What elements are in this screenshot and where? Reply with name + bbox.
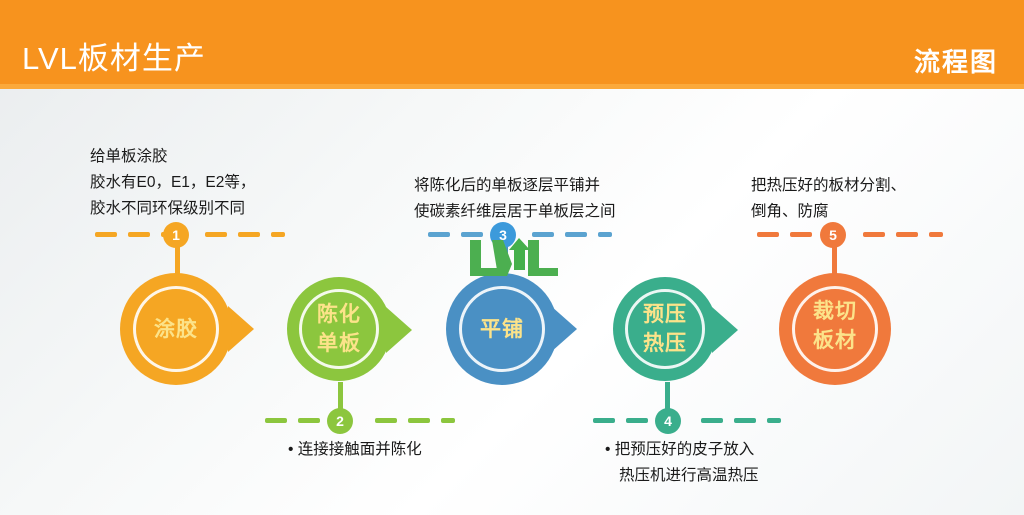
marker-dash	[790, 232, 812, 237]
flow-ring-1	[133, 286, 219, 372]
infographic-page: LVL板材生产 流程图 涂胶 1 给单板涂胶 胶水有E0，E1，E2等， 胶水不…	[0, 0, 1024, 515]
marker-dash	[565, 232, 587, 237]
marker-dash	[298, 418, 320, 423]
marker-dash	[238, 232, 260, 237]
flow-badge-5: 5	[820, 222, 846, 248]
marker-dash	[757, 232, 779, 237]
marker-dash	[701, 418, 723, 423]
flow-bullet-2: •	[288, 441, 293, 458]
header-underline	[0, 84, 1024, 89]
flow-marker-4	[593, 418, 793, 423]
header-badge-label: 流程图	[914, 42, 998, 79]
marker-dash	[896, 232, 918, 237]
marker-dash	[128, 232, 150, 237]
flow-ring-3	[459, 286, 545, 372]
flow-caption-2-line1: 连接接触面并陈化	[298, 441, 422, 458]
flow-caption-1: 给单板涂胶 胶水有E0，E1，E2等， 胶水不同环保级别不同	[90, 144, 255, 222]
flow-marker-1	[95, 232, 295, 237]
marker-dash	[428, 232, 450, 237]
marker-dash	[271, 232, 285, 237]
flow-marker-2	[265, 418, 465, 423]
flow-caption-4-line2: 热压机进行高温热压	[619, 467, 759, 484]
marker-dash	[375, 418, 397, 423]
marker-dash	[441, 418, 455, 423]
marker-dash	[626, 418, 648, 423]
flow-caption-2: • 连接接触面并陈化	[288, 437, 422, 463]
flow-badge-1: 1	[163, 222, 189, 248]
marker-dash	[929, 232, 943, 237]
flow-ring-4	[625, 289, 705, 369]
flow-caption-1-line2: 胶水有E0，E1，E2等，	[90, 170, 255, 196]
marker-dash	[598, 232, 612, 237]
flow-ring-5	[792, 286, 878, 372]
flow-caption-3-line2: 使碳素纤维层居于单板层之间	[414, 199, 616, 225]
marker-dash	[593, 418, 615, 423]
flow-caption-3-line1: 将陈化后的单板逐层平铺并	[414, 173, 616, 199]
marker-dash	[265, 418, 287, 423]
flow-badge-4: 4	[655, 408, 681, 434]
flow-marker-5	[757, 232, 947, 237]
flow-caption-3: 将陈化后的单板逐层平铺并 使碳素纤维层居于单板层之间	[414, 173, 616, 225]
header-band: LVL板材生产 流程图	[0, 0, 1024, 88]
lvl-logo-watermark	[466, 236, 562, 278]
marker-dash	[734, 418, 756, 423]
flow-ring-2	[299, 289, 379, 369]
marker-dash	[461, 232, 483, 237]
flow-caption-5-line1: 把热压好的板材分割、	[751, 173, 906, 199]
flow-marker-3	[428, 232, 618, 237]
flow-badge-2: 2	[327, 408, 353, 434]
flow-caption-1-line3: 胶水不同环保级别不同	[90, 196, 255, 222]
marker-dash	[767, 418, 781, 423]
flow-caption-5-line2: 倒角、防腐	[751, 199, 906, 225]
marker-dash	[532, 232, 554, 237]
marker-dash	[205, 232, 227, 237]
flow-bullet-4: •	[605, 441, 610, 458]
flow-caption-4-line1: 把预压好的皮子放入	[615, 441, 755, 458]
marker-dash	[863, 232, 885, 237]
page-title: LVL板材生产	[22, 33, 206, 78]
flow-caption-1-line1: 给单板涂胶	[90, 144, 255, 170]
flow-caption-5: 把热压好的板材分割、 倒角、防腐	[751, 173, 906, 225]
marker-dash	[95, 232, 117, 237]
marker-dash	[408, 418, 430, 423]
flow-badge-3: 3	[490, 222, 516, 248]
flow-caption-4: • 把预压好的皮子放入 热压机进行高温热压	[605, 437, 759, 489]
